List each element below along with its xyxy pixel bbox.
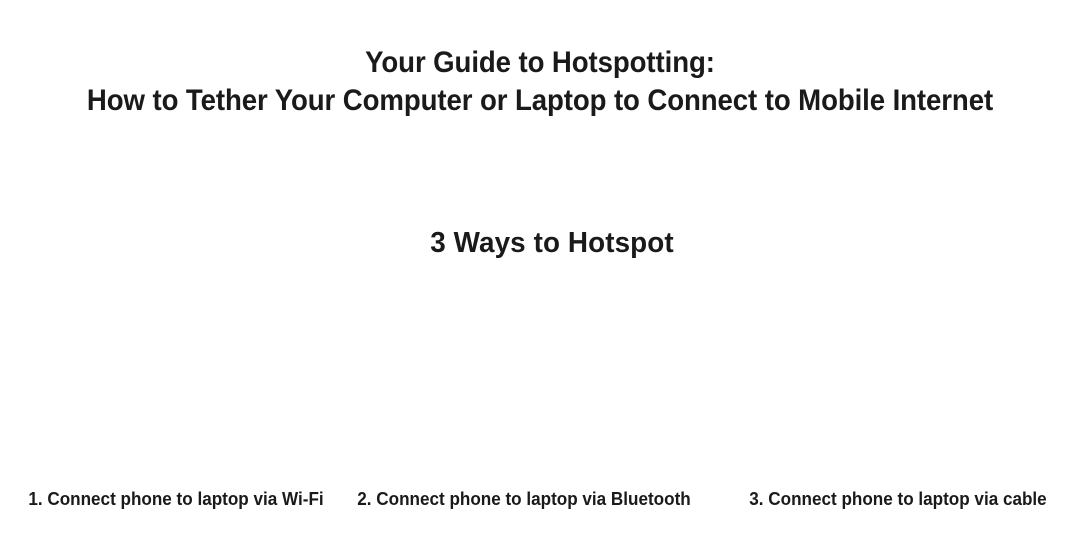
method-captions-row: 1. Connect phone to laptop via Wi-Fi 2. …	[0, 488, 1080, 510]
page-title-line-2: How to Tether Your Computer or Laptop to…	[43, 82, 1037, 120]
infographic-page: Your Guide to Hotspotting: How to Tether…	[0, 0, 1080, 552]
method-caption-bluetooth: 2. Connect phone to laptop via Bluetooth	[353, 488, 695, 510]
section-heading: 3 Ways to Hotspot	[34, 224, 1071, 262]
method-caption-cable: 3. Connect phone to laptop via cable	[727, 488, 1069, 510]
illustration-slot-bluetooth	[360, 280, 720, 480]
illustration-slot-wifi	[0, 280, 360, 480]
page-title-line-1: Your Guide to Hotspotting:	[43, 44, 1037, 82]
illustration-area	[0, 280, 1080, 480]
page-title: Your Guide to Hotspotting: How to Tether…	[0, 44, 1080, 120]
method-caption-wifi: 1. Connect phone to laptop via Wi-Fi	[5, 488, 347, 510]
illustration-slot-cable	[720, 280, 1080, 480]
